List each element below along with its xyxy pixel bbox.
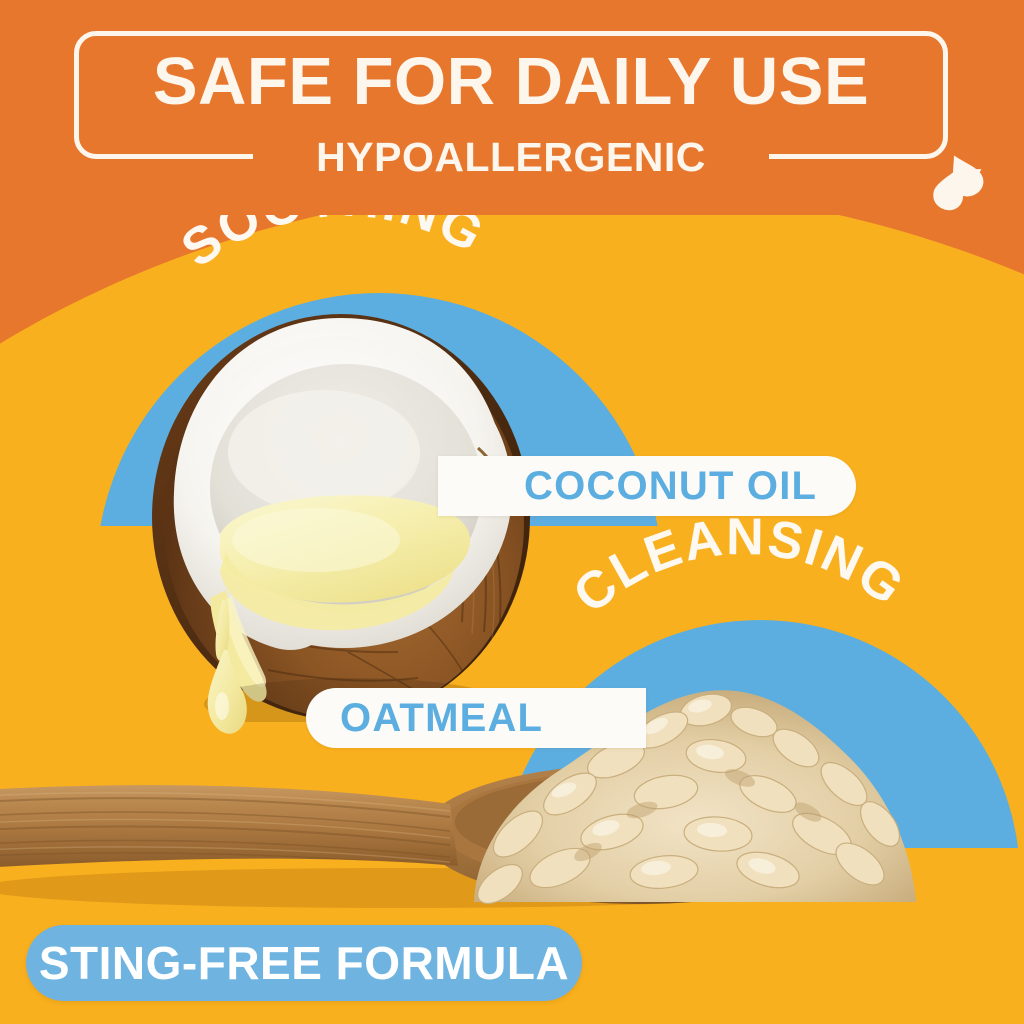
product-benefits-graphic: SOOTHING CLEANSING COCONUT OIL OATMEAL S… [0, 0, 1024, 1024]
ingredient-pill-oatmeal[interactable]: OATMEAL [306, 688, 646, 748]
ingredient-label-coconut-oil: COCONUT OIL [524, 464, 817, 509]
ingredient-pill-coconut-oil[interactable]: COCONUT OIL [438, 456, 856, 516]
sting-free-badge[interactable]: STING-FREE FORMULA [26, 925, 582, 1001]
page-subtitle: HYPOALLERGENIC [74, 133, 948, 181]
benefit-arc-cleansing: CLEANSING [520, 548, 960, 698]
ingredient-label-oatmeal: OATMEAL [340, 696, 543, 741]
sting-free-label: STING-FREE FORMULA [39, 936, 569, 990]
water-droplets-icon [925, 138, 1005, 218]
oil-droplet-image [196, 600, 266, 740]
page-title: SAFE FOR DAILY USE [74, 44, 948, 120]
benefit-arc-soothing: SOOTHING [120, 214, 560, 364]
